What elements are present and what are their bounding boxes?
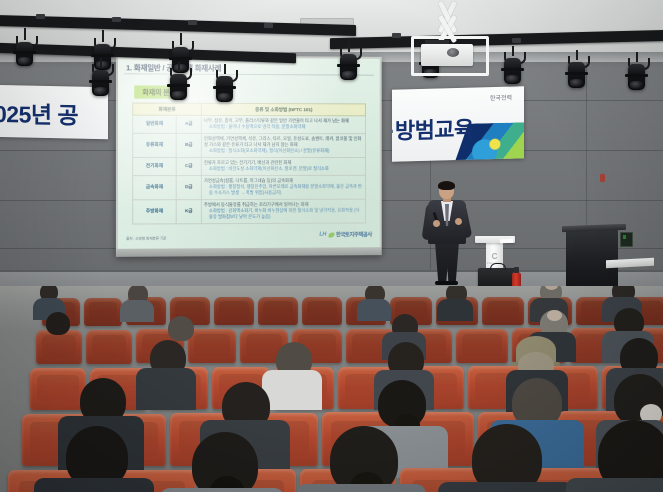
stage-light [16, 42, 33, 66]
truss-plate [36, 14, 45, 19]
audience-torso [262, 370, 322, 410]
audience-torso [437, 299, 473, 321]
projector-lens-icon [447, 48, 459, 57]
table-row: 금속화재 D급 가연성금속(칼륨, 나트륨, 마그네슘 등)의 금속화재 소화방… [133, 175, 366, 200]
light-lens [342, 71, 355, 79]
row-desc-text: 가연성금속(칼륨, 나트륨, 마그네슘 등)의 금속화재 [204, 178, 293, 183]
table-header-classification: 화재분류 [133, 103, 202, 115]
table-row: 일반화재 A급 나무, 섬유, 종이, 고무, 플라스틱류와 같은 일반 가연물… [133, 115, 366, 133]
row-method-text: 소화방법 : 팽창질석, 팽창진주암, 마른모래로 금속화재용 분말소화약제, … [204, 184, 363, 197]
presenter-legs [435, 242, 459, 284]
row-name: 전기화재 [133, 157, 177, 175]
audience-torso [120, 300, 154, 322]
lectern [566, 225, 622, 287]
row-desc: 가연성금속(칼륨, 나트륨, 마그네슘 등)의 금속화재 소화방법 : 팽창질석… [201, 175, 365, 199]
slide-footer-note: 출처 : 소방청 화재분류 기준 [126, 236, 166, 241]
row-class: D급 [176, 175, 201, 199]
seat [482, 297, 524, 325]
stage-light [216, 76, 233, 102]
light-lens [630, 81, 643, 89]
slide-divider [124, 73, 374, 75]
row-class: C급 [176, 157, 201, 175]
projector-body [421, 44, 473, 66]
audience-torso [296, 484, 426, 492]
audience-bald-spot [547, 310, 562, 321]
seat [36, 330, 82, 364]
light-lens [570, 79, 583, 87]
table-row: 전기화재 C급 전류가 흐르고 있는 전기기기, 배선과 관련된 화재 소화방법… [133, 157, 366, 175]
presenter-right-hand [455, 218, 462, 225]
audience-torso [34, 478, 154, 492]
presenter-hair [438, 181, 455, 190]
podium-papers [500, 239, 513, 244]
row-desc-text: 나무, 섬유, 종이, 고무, 플라스틱류와 같은 일반 가연물이 타고 나서 … [204, 118, 349, 123]
presenter-shoes [435, 281, 458, 285]
row-desc: 주방에서 동식물유를 취급하는 조리기구에서 일어나는 화재 소화방법 : 강화… [201, 199, 365, 224]
banner-right-text: ·방범교육 [392, 112, 474, 146]
audience-hall [0, 286, 663, 492]
truss-plate [112, 17, 121, 22]
seat [188, 329, 236, 363]
seat [258, 297, 298, 325]
stage-light [170, 74, 187, 100]
projection-screen: 1. 화재일반 / 공동주택 화재사례 화재의 분류 화재분류 종류 및 소화방… [116, 55, 382, 257]
table-header-row: 화재분류 종류 및 소화방법 (NFTC 101) [133, 103, 366, 116]
briefcase [478, 268, 516, 288]
row-name: 주방화재 [133, 199, 177, 223]
seat [30, 368, 86, 410]
exit-marker [600, 174, 605, 182]
stage-light [568, 62, 585, 88]
row-method-text: 소화방법 : 질식소화(포소화약제), 질식(이산화탄소) / 분말(유류화재) [204, 148, 363, 154]
lh-company-name: 한국토지주택공사 [336, 230, 372, 238]
audience-torso [160, 488, 284, 492]
fire-classification-table: 화재분류 종류 및 소화방법 (NFTC 101) 일반화재 A급 나무, 섬유… [132, 103, 366, 225]
leaf-icon [328, 232, 334, 237]
audience-head [168, 316, 194, 341]
truss-plate [512, 38, 521, 43]
table-row: 주방화재 K급 주방에서 동식물유를 취급하는 조리기구에서 일어나는 화재 소… [133, 199, 366, 224]
presenter-left-hand [433, 220, 440, 227]
presenter [424, 182, 470, 284]
slide-logo: LH 한국토지주택공사 [319, 230, 371, 238]
row-method-text: 소화방법 : 강화액소화기, 비누화 비누현상에 의한 질식소화 및 냉각작용,… [204, 208, 363, 221]
truss-plate [264, 23, 273, 28]
auditorium-scene: 025년 공 한국전력 ·방범교육 1. 화재일반 / 공동주택 화재사례 화재… [0, 0, 663, 492]
audience-torso [566, 478, 663, 492]
switch-indicator [623, 235, 626, 239]
table-row: 유류화재 B급 인화성액체, 가연성액체, 석유, 그리스, 타르, 오일, 유… [133, 133, 366, 157]
table-header-method: 종류 및 소화방법 (NFTC 101) [201, 103, 365, 115]
light-lens [94, 87, 107, 95]
seat [302, 297, 342, 325]
light-lens [218, 93, 231, 101]
light-switch[interactable] [620, 232, 633, 247]
audience-torso [357, 299, 391, 321]
stage-light [340, 54, 357, 80]
row-desc: 나무, 섬유, 종이, 고무, 플라스틱류와 같은 일반 가연물이 타고 나서 … [201, 115, 365, 133]
row-desc-text: 주방에서 동식물유를 취급하는 조리기구에서 일어나는 화재 [204, 202, 309, 207]
banner-right: 한국전력 ·방범교육 [392, 86, 524, 161]
row-desc-text: 전류가 흐르고 있는 전기기기, 배선과 관련된 화재 [204, 160, 291, 165]
row-desc-text: 인화성액체, 가연성액체, 석유, 그리스, 타르, 오일, 유성도료, 솔벤트… [204, 136, 361, 147]
seat [456, 329, 508, 363]
row-class: B급 [176, 133, 201, 157]
stage-light [628, 64, 645, 90]
row-method-text: 소화방법 : 비전도성 소화약제(이산화탄소, 할로겐, 분말)로 질식소화 [204, 166, 363, 172]
lh-mark: LH [319, 232, 326, 238]
stage-light [92, 70, 109, 96]
light-lens [172, 91, 185, 99]
row-class: K급 [176, 199, 201, 223]
banner-right-small-text: 한국전력 [490, 93, 512, 103]
row-name: 유류화재 [133, 133, 177, 157]
light-lens [18, 57, 31, 65]
lectern-body [566, 230, 618, 287]
row-method-text: 소화방법 : 물이나 수용액으로 냉각 작용, 분말소화약제 [204, 124, 363, 131]
seat [214, 297, 254, 325]
seat [84, 298, 122, 326]
audience-torso [438, 482, 574, 492]
light-lens [506, 75, 519, 83]
banner-left-text: 025년 공 [0, 95, 78, 131]
seat [86, 330, 132, 364]
ceiling-projector [389, 0, 507, 74]
audience-torso [136, 368, 196, 410]
row-desc: 인화성액체, 가연성액체, 석유, 그리스, 타르, 오일, 유성도료, 솔벤트… [201, 133, 365, 157]
row-name: 일반화재 [133, 115, 177, 133]
truss-plate [188, 20, 197, 25]
slide-surface: 1. 화재일반 / 공동주택 화재사례 화재의 분류 화재분류 종류 및 소화방… [118, 57, 380, 249]
row-class: A급 [176, 115, 201, 133]
row-name: 금속화재 [133, 175, 177, 199]
row-desc: 전류가 흐르고 있는 전기기기, 배선과 관련된 화재 소화방법 : 비전도성 … [201, 157, 365, 175]
podium-logo-letter: C [492, 252, 498, 261]
audience-head [46, 312, 70, 335]
